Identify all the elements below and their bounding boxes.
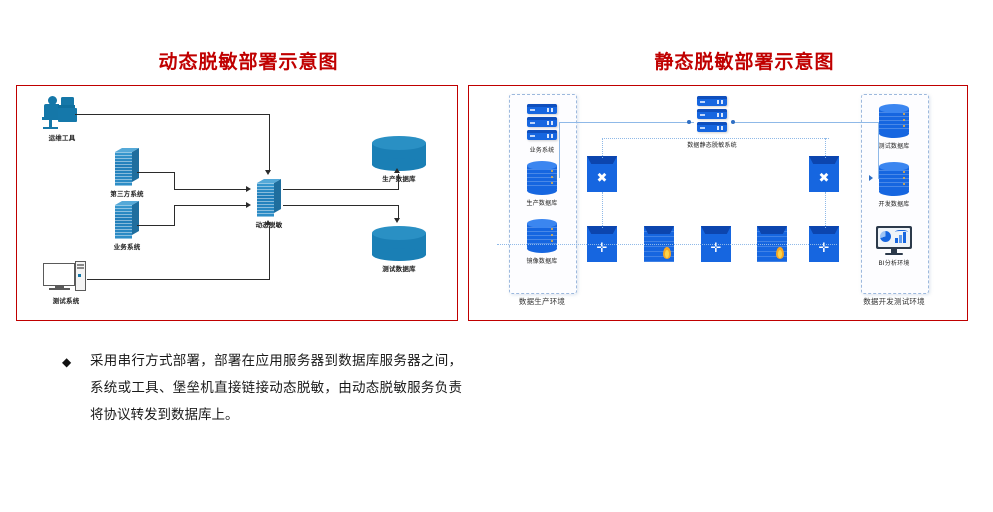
left-panel-note: ◆ 采用串行方式部署，部署在应用服务器到数据库服务器之间，系统或工具、堡垒机直接…	[62, 348, 462, 429]
node-test-system: 测试系统	[43, 261, 89, 293]
node-label-dev-db: 开发数据库	[878, 199, 909, 208]
dynamic-masking-diagram: 运维工具 第三方系统 业务系统 测试系统	[16, 85, 458, 321]
node-business-system: 业务系统	[527, 104, 557, 143]
connector-third-party-v	[174, 172, 175, 190]
bi-analytics-monitor-icon	[876, 226, 912, 256]
node-test-db: 测试数据库	[879, 104, 909, 138]
dev-test-zone-label: 数据开发测试环境	[863, 296, 925, 307]
switch-icon: ✖	[809, 156, 839, 192]
dotted-line-switchleft-down	[602, 192, 603, 228]
server-icon	[115, 201, 139, 239]
dotted-line-switchleft-up	[602, 138, 603, 158]
node-label-business-system: 业务系统	[530, 145, 555, 154]
node-ops-tool: 运维工具	[39, 96, 85, 130]
node-switch-left: ✖	[587, 156, 617, 192]
left-panel-title: 动态脱敏部署示意图	[0, 47, 497, 74]
production-zone-label: 数据生产环境	[519, 296, 565, 307]
dotted-line-bottom-row	[497, 244, 837, 245]
connector-masking-to-testdb-v	[398, 205, 399, 219]
connector-test-system-v	[269, 226, 270, 280]
blue-line-prod-to-center	[559, 122, 694, 123]
router-glyph: ✛	[701, 236, 731, 260]
database-icon	[879, 104, 909, 138]
blue-line-devtest-down	[878, 122, 879, 179]
masking-server-icon	[257, 179, 281, 217]
connector-ops-to-masking-h	[75, 114, 270, 115]
connector-masking-to-proddb-v	[398, 174, 399, 190]
connector-business-h1	[137, 225, 175, 226]
right-panel-title: 静态脱敏部署示意图	[496, 47, 993, 74]
database-cylinder-icon	[372, 136, 426, 170]
dotted-line-top	[602, 138, 829, 139]
link-dot-left	[687, 120, 691, 124]
node-third-party-system: 第三方系统	[115, 148, 139, 186]
router-glyph: ✛	[587, 236, 617, 260]
database-cylinder-icon	[372, 226, 426, 260]
router-glyph: ✛	[809, 236, 839, 260]
connector-masking-to-proddb-h	[283, 189, 399, 190]
connector-third-party-h2	[174, 189, 247, 190]
right-panel: 静态脱敏部署示意图 数据生产环境 业务系统 生产数据库	[496, 0, 993, 512]
arrow-into-test-db	[394, 218, 400, 223]
node-label-bi-environment: BI分析环境	[878, 258, 909, 267]
server-icon	[115, 148, 139, 186]
blue-line-prod-up	[559, 122, 560, 178]
node-label-ops-tool: 运维工具	[49, 132, 76, 142]
node-mirror-db: 镜像数据库	[527, 219, 557, 253]
node-switch-right: ✖	[809, 156, 839, 192]
switch-glyph: ✖	[587, 166, 617, 190]
node-business-system: 业务系统	[115, 201, 139, 239]
flame-icon	[776, 247, 784, 259]
switch-icon: ✖	[587, 156, 617, 192]
blue-arrow-to-dev-db	[869, 175, 873, 181]
node-label-test-db: 测试数据库	[382, 263, 416, 273]
node-label-production-db: 生产数据库	[526, 198, 557, 207]
blue-arrow-to-prod-db	[553, 174, 557, 180]
connector-business-v	[174, 205, 175, 226]
arrow-into-masking-left-2	[246, 202, 251, 208]
node-dynamic-masking: 动态脱敏	[257, 179, 281, 217]
static-masking-diagram: 数据生产环境 业务系统 生产数据库 镜像数据库	[468, 85, 968, 321]
desktop-pc-icon	[43, 261, 89, 293]
connector-third-party-h1	[137, 172, 175, 173]
node-label-business-system: 业务系统	[114, 241, 141, 251]
ops-tool-icon	[39, 96, 85, 130]
database-icon	[879, 162, 909, 196]
connector-business-h2	[174, 205, 247, 206]
node-production-db: 生产数据库	[372, 136, 426, 170]
dotted-line-switchright-up	[825, 138, 826, 158]
left-note-text: 采用串行方式部署，部署在应用服务器到数据库服务器之间，系统或工具、堡垒机直接链接…	[90, 348, 462, 429]
connector-ops-to-masking-v	[269, 114, 270, 172]
node-dev-db: 开发数据库	[879, 162, 909, 196]
link-dot-right	[731, 120, 735, 124]
node-label-test-system: 测试系统	[53, 295, 80, 305]
node-label-static-masking-system: 数据静态脱敏系统	[687, 140, 737, 149]
connector-test-system-h	[87, 279, 270, 280]
node-test-db: 测试数据库	[372, 226, 426, 260]
node-bi-environment: BI分析环境	[876, 226, 912, 256]
arrow-into-production-db	[394, 168, 400, 173]
arrow-into-masking-bottom	[265, 220, 271, 225]
arrow-into-masking-left-1	[246, 186, 251, 192]
node-label-mirror-db: 镜像数据库	[526, 256, 557, 265]
server-stack-icon	[527, 104, 557, 140]
database-icon	[527, 219, 557, 253]
server-stack-icon	[697, 96, 727, 132]
arrow-into-masking-top	[265, 170, 271, 175]
blue-line-center-to-devtest	[734, 122, 879, 123]
connector-masking-to-testdb-h	[283, 205, 399, 206]
switch-glyph: ✖	[809, 166, 839, 190]
node-static-masking-system: 数据静态脱敏系统	[697, 96, 727, 135]
left-panel: 动态脱敏部署示意图 运维工具 第三方系统 业务系统	[0, 0, 497, 512]
dotted-line-switchright-down	[825, 192, 826, 228]
node-label-test-db: 测试数据库	[878, 141, 909, 150]
bullet-diamond-icon: ◆	[62, 349, 71, 376]
flame-icon	[663, 247, 671, 259]
node-label-third-party: 第三方系统	[110, 188, 144, 198]
